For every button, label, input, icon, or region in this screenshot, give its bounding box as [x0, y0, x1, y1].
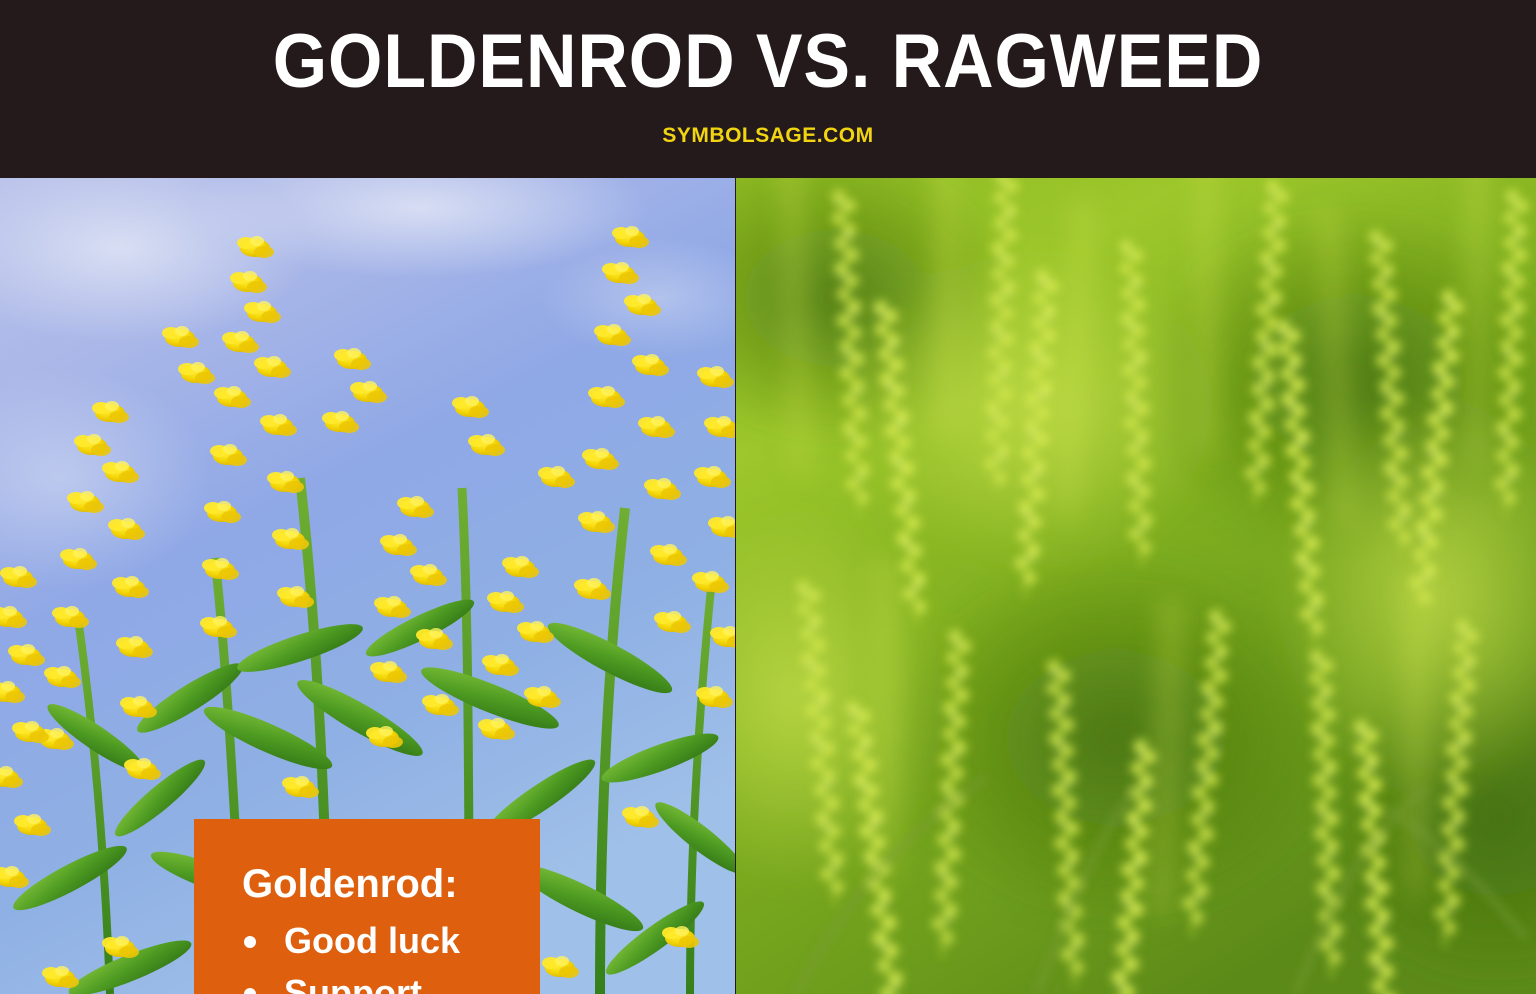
list-item: Good luck	[232, 915, 530, 967]
panel-goldenrod: Goldenrod: Good luck Support Adaptabilit…	[0, 178, 735, 994]
list-item-label: Good luck	[284, 920, 460, 961]
page-title: GOLDENROD VS. RAGWEED	[61, 22, 1474, 102]
source-watermark: SYMBOLSAGE.COM	[0, 124, 1536, 148]
callout-goldenrod: Goldenrod: Good luck Support Adaptabilit…	[194, 819, 540, 994]
callout-goldenrod-title: Goldenrod:	[232, 861, 530, 907]
bullet-icon	[244, 936, 256, 948]
bullet-icon	[244, 988, 256, 994]
comparison-panels: Goldenrod: Good luck Support Adaptabilit…	[0, 178, 1536, 994]
infographic-root: GOLDENROD VS. RAGWEED SYMBOLSAGE.COM	[0, 0, 1536, 994]
ragweed-photo	[736, 178, 1536, 994]
list-item: Support	[232, 967, 530, 994]
callout-goldenrod-list: Good luck Support Adaptability Prosperit…	[232, 915, 530, 994]
list-item-label: Support	[284, 972, 422, 994]
header-banner: GOLDENROD VS. RAGWEED SYMBOLSAGE.COM	[0, 0, 1536, 178]
panel-ragweed: Ragweed: Invasive An allergen Not much s…	[736, 178, 1536, 994]
